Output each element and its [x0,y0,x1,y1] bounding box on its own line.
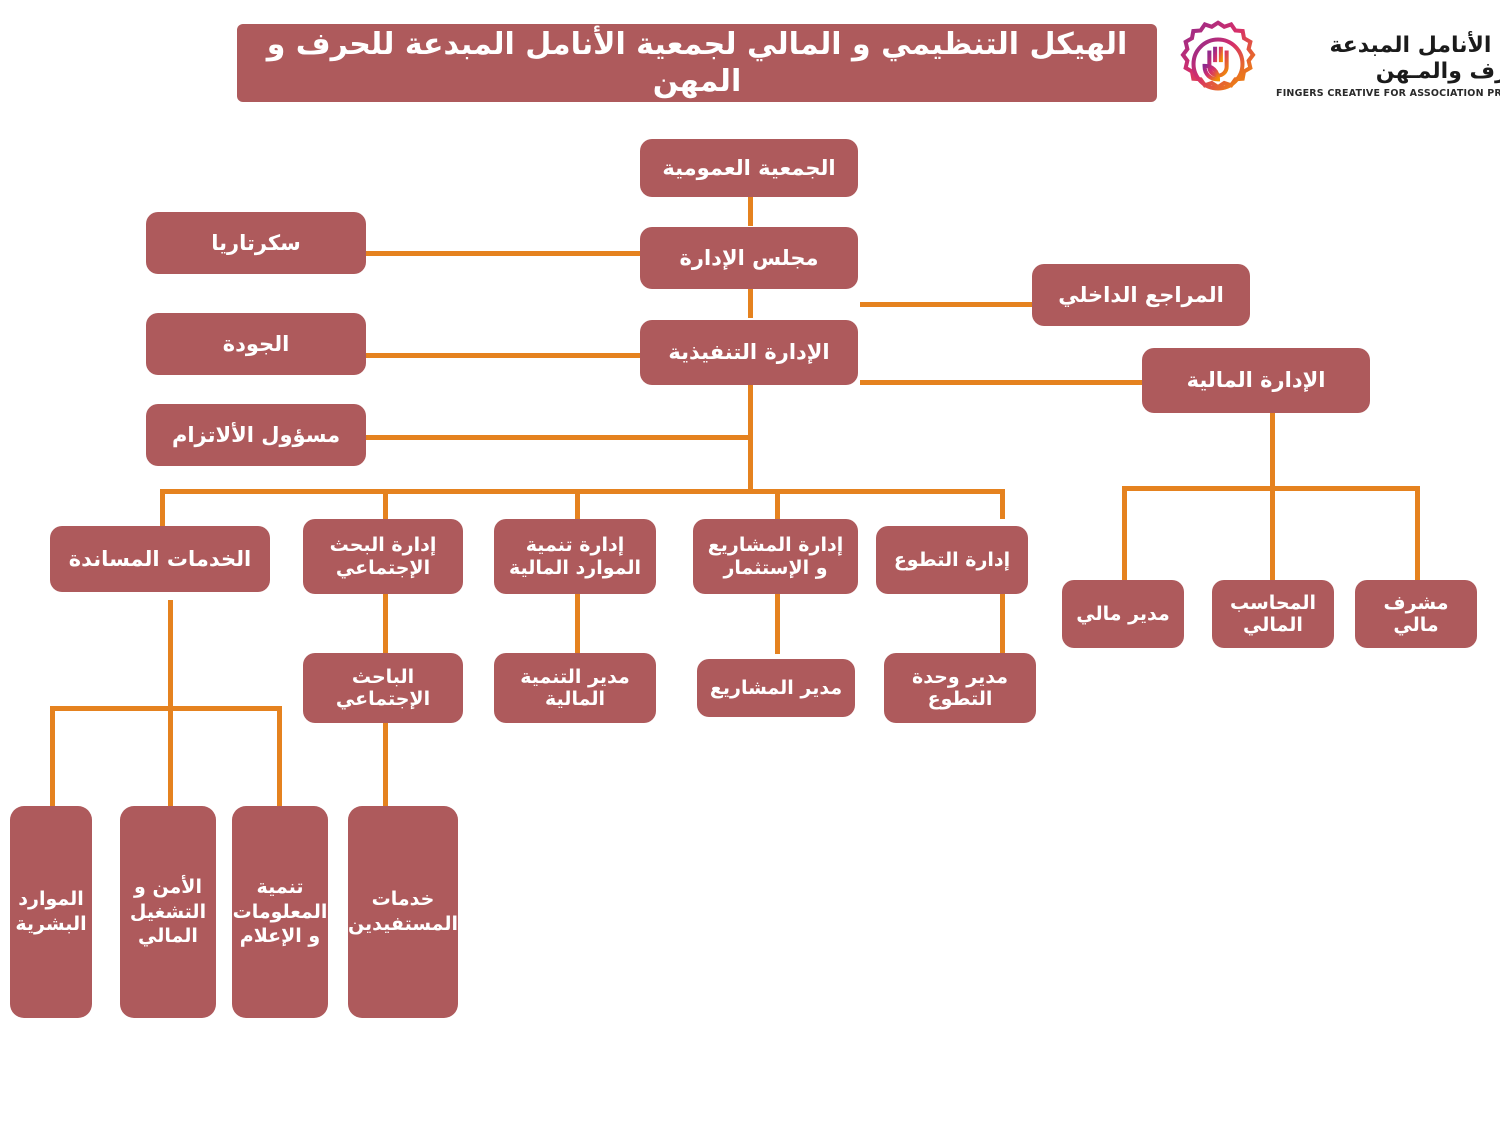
node-label: مسؤول الألاتزام [172,423,340,448]
node-general-assembly[interactable]: الجمعية العمومية [640,139,858,197]
node-compliance[interactable]: مسؤول الألاتزام [146,404,366,466]
connector-compliance-trunk [365,435,753,440]
node-label: المحاسب المالي [1220,592,1326,637]
node-label: مدير مالي [1076,603,1170,625]
connector-support-info-media [277,706,282,808]
connector-secretariat-board [365,251,650,256]
node-label: مدير التنمية المالية [502,666,648,711]
association-logo: جمعية الأنامل المبدعة للحـــرف والمـهن F… [1170,14,1490,114]
connector-bus-volunteering [1000,489,1005,519]
node-security-operations[interactable]: الأمن و التشغيل المالي [120,806,216,1018]
connector-bus-resource-dev [575,489,580,519]
connector-bus-projects [775,489,780,519]
connector-support-security [168,706,173,808]
connector-departments-bus [160,489,1005,494]
node-executive[interactable]: الإدارة التنفيذية [640,320,858,385]
node-resource-development[interactable]: إدارة تنمية الموارد المالية [494,519,656,594]
node-human-resources[interactable]: الموارد البشرية [10,806,92,1018]
logo-line-1: جمعية الأنامل المبدعة [1329,33,1500,59]
node-label: مدير وحدة التطوع [892,666,1028,711]
node-quality[interactable]: الجودة [146,313,366,375]
connector-researcher-beneficiary [383,722,388,808]
node-label: المراجع الداخلي [1058,283,1224,308]
logo-line-2: للحـــرف والمـهن [1376,59,1500,85]
connector-board-executive [748,288,753,318]
node-label: سكرتاريا [211,231,301,256]
node-label: إدارة التطوع [894,549,1010,571]
node-label: الخدمات المساندة [69,547,251,572]
connector-executive-trunk [748,385,753,493]
page-title-banner: الهيكل التنظيمي و المالي لجمعية الأنامل … [237,24,1157,102]
node-label: مجلس الإدارة [680,246,819,271]
node-accountant[interactable]: المحاسب المالي [1212,580,1334,648]
org-chart-canvas: الهيكل التنظيمي و المالي لجمعية الأنامل … [0,0,1500,1125]
node-finance-supervisor[interactable]: مشرف مالي [1355,580,1477,648]
connector-bus-support-services [160,489,165,526]
connector-bus-social-research [383,489,388,519]
node-label: الأمن و التشغيل المالي [124,875,212,949]
page-title: الهيكل التنظيمي و المالي لجمعية الأنامل … [263,26,1131,101]
connector-finance-bus-supervisor [1415,486,1420,580]
connector-finance-bus-manager [1122,486,1127,580]
node-finance-manager[interactable]: مدير مالي [1062,580,1184,648]
node-label: مشرف مالي [1363,592,1469,637]
connector-projects-manager [775,594,780,654]
node-label: إدارة تنمية الموارد المالية [502,534,648,579]
connector-support-bus [50,706,282,711]
node-board[interactable]: مجلس الإدارة [640,227,858,289]
node-secretariat[interactable]: سكرتاريا [146,212,366,274]
node-volunteering[interactable]: إدارة التطوع [876,526,1028,594]
node-finance-department[interactable]: الإدارة المالية [1142,348,1370,413]
connector-assembly-board [748,196,753,226]
node-projects-manager[interactable]: مدير المشاريع [697,659,855,717]
node-label: الموارد البشرية [14,887,88,936]
node-label: الجمعية العمومية [662,156,835,181]
connector-support-hr [50,706,55,808]
connector-board-auditor [860,302,1035,307]
node-label: خدمات المستفيدين [348,887,458,936]
node-social-research[interactable]: إدارة البحث الإجتماعي [303,519,463,594]
gear-hand-logo-icon [1170,16,1266,112]
logo-english-subtitle: FINGERS CREATIVE FOR ASSOCIATION PROFESS… [1276,88,1500,99]
node-volunteer-unit-manager[interactable]: مدير وحدة التطوع [884,653,1036,723]
node-support-services[interactable]: الخدمات المساندة [50,526,270,592]
node-information-media[interactable]: تنمية المعلومات و الإعلام [232,806,328,1018]
node-label: الجودة [223,332,290,357]
node-label: إدارة المشاريع و الإستثمار [701,534,850,579]
node-label: الإدارة التنفيذية [668,340,829,365]
node-internal-auditor[interactable]: المراجع الداخلي [1032,264,1250,326]
connector-volunteering-manager [1000,594,1005,654]
node-social-researcher[interactable]: الباحث الإجتماعي [303,653,463,723]
node-label: مدير المشاريع [710,677,842,699]
node-label: تنمية المعلومات و الإعلام [233,875,328,949]
node-projects-investment[interactable]: إدارة المشاريع و الإستثمار [693,519,858,594]
connector-quality-executive [365,353,650,358]
node-label: الباحث الإجتماعي [311,666,455,711]
connector-executive-finance [860,380,1145,385]
connector-finance-bus-accountant [1270,486,1275,580]
node-beneficiary-services[interactable]: خدمات المستفيدين [348,806,458,1018]
node-finance-development-manager[interactable]: مدير التنمية المالية [494,653,656,723]
connector-support-trunk [168,600,173,710]
connector-social-research-researcher [383,594,388,654]
connector-finance-trunk [1270,413,1275,489]
node-label: الإدارة المالية [1187,368,1326,393]
node-label: إدارة البحث الإجتماعي [311,534,455,579]
connector-resource-dev-manager [575,594,580,654]
